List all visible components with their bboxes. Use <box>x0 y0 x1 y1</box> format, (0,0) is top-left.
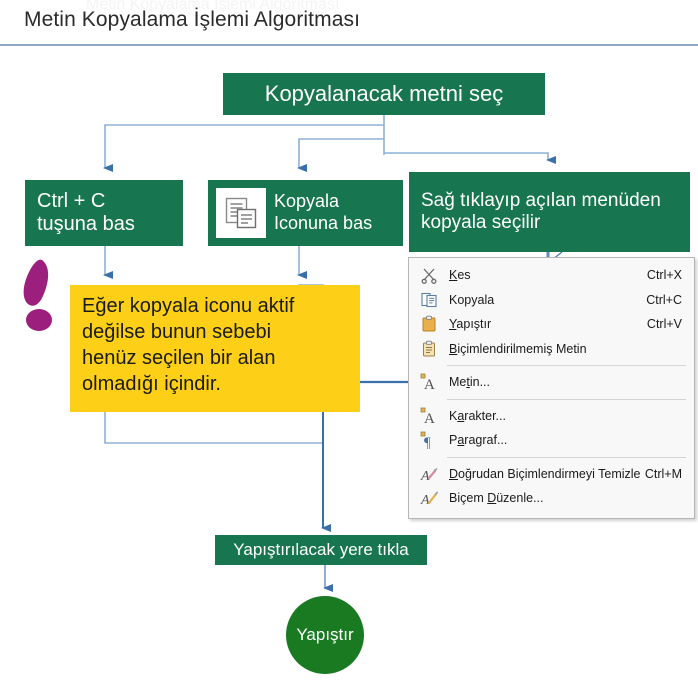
character-a-icon: A <box>415 406 443 426</box>
callout-line-3: henüz seçilen bir alan <box>82 345 360 371</box>
node-right-click-menu-label: Sağ tıklayıp açılan menüden kopyala seçi… <box>421 190 661 234</box>
menu-item-kes-accel: Ctrl+X <box>647 268 694 282</box>
menu-item-kes-mnemonic: K <box>449 268 457 282</box>
node-copy-icon-line2: Iconuna bas <box>274 213 372 233</box>
callout-line-2: değilse bunun sebebi <box>82 319 360 345</box>
menu-item-bicimlendirilmemis-metin-label: Biçimlendirilmemiş Metin <box>443 342 682 356</box>
menu-item-paragraf[interactable]: ¶ Paragraf... <box>409 428 694 453</box>
text-a-icon: A <box>415 372 443 392</box>
menu-item-bicimlendirilmemis-metin[interactable]: Biçimlendirilmemiş Metin <box>409 337 694 362</box>
menu-item-bicimlendirilmemis-metin-mnemonic: B <box>449 342 457 356</box>
callout-note: Eğer kopyala iconu aktif değilse bunun s… <box>70 285 360 412</box>
menu-item-metin[interactable]: A Metin... <box>409 370 694 395</box>
paste-icon <box>415 314 443 334</box>
node-ctrl-c-label: Ctrl + C tuşuna bas <box>37 190 135 236</box>
svg-text:A: A <box>420 469 430 483</box>
scissors-icon <box>415 265 443 285</box>
menu-item-bicem-duzenle[interactable]: A Biçem Düzenle... <box>409 486 694 511</box>
menu-item-yapistir-mnemonic: Y <box>449 317 456 331</box>
node-paste-terminator-label: Yapıştır <box>296 625 353 645</box>
menu-item-kes-label: Kes <box>443 268 647 282</box>
node-right-click-menu[interactable]: Sağ tıklayıp açılan menüden kopyala seçi… <box>409 172 690 252</box>
menu-separator <box>447 365 686 366</box>
svg-text:¶: ¶ <box>424 435 431 449</box>
clear-formatting-icon: A <box>415 464 443 484</box>
node-copy-icon-press[interactable]: Kopyala Iconuna bas <box>208 180 403 246</box>
node-right-click-line1: Sağ tıklayıp açılan menüden <box>421 190 661 211</box>
node-ctrl-c-line2: tuşuna bas <box>37 213 135 235</box>
menu-item-karakter[interactable]: A Karakter... <box>409 404 694 429</box>
exclamation-mark-icon <box>12 258 68 334</box>
menu-item-bicem-duzenle-mnemonic: D <box>487 491 496 505</box>
menu-item-kopyala[interactable]: Kopyala Ctrl+C <box>409 288 694 313</box>
context-menu[interactable]: Kes Ctrl+X Kopyala Ctrl+C <box>408 257 695 519</box>
node-copy-icon-line1: Kopyala <box>274 191 339 211</box>
svg-text:A: A <box>420 493 430 507</box>
menu-item-karakter-mnemonic: a <box>457 409 464 423</box>
menu-item-bicem-duzenle-label: Biçem Düzenle... <box>443 491 682 505</box>
slide-canvas: Metin Kopyalama İşlemi Algoritması Metin… <box>0 0 698 680</box>
callout-line-1: Eğer kopyala iconu aktif <box>82 293 360 319</box>
menu-item-yapistir[interactable]: Yapıştır Ctrl+V <box>409 312 694 337</box>
paragraph-icon: ¶ <box>415 430 443 450</box>
copy-icon <box>415 290 443 310</box>
menu-separator <box>447 399 686 400</box>
menu-item-metin-label: Metin... <box>443 375 682 389</box>
node-select-text-label: Kopyalanacak metni seç <box>265 81 503 106</box>
menu-item-dogrudan-mnemonic: D <box>449 467 458 481</box>
node-right-click-line2: kopyala seçilir <box>421 212 540 233</box>
edit-style-icon: A <box>415 488 443 508</box>
menu-item-kes[interactable]: Kes Ctrl+X <box>409 263 694 288</box>
menu-item-kopyala-accel: Ctrl+C <box>646 293 694 307</box>
menu-separator <box>447 457 686 458</box>
node-select-text[interactable]: Kopyalanacak metni seç <box>223 73 545 115</box>
node-paste-click-label: Yapıştırılacak yere tıkla <box>233 540 408 560</box>
node-paste-click[interactable]: Yapıştırılacak yere tıkla <box>215 535 427 565</box>
menu-item-kopyala-label: Kopyala <box>443 293 646 307</box>
menu-item-yapistir-accel: Ctrl+V <box>647 317 694 331</box>
callout-line-4: olmadığı içindir. <box>82 371 360 397</box>
svg-text:A: A <box>424 411 435 425</box>
menu-item-metin-mnemonic: t <box>466 375 469 389</box>
menu-item-yapistir-label: Yapıştır <box>443 317 647 331</box>
menu-item-karakter-label: Karakter... <box>443 409 682 423</box>
copy-icon <box>216 188 266 238</box>
menu-item-dogrudan-bicimlendirmeyi-temizle[interactable]: A Doğrudan Biçimlendirmeyi Temizle Ctrl+… <box>409 462 694 487</box>
copy-icon-glyph <box>222 194 260 232</box>
node-ctrl-c-line1: Ctrl + C <box>37 190 105 212</box>
clipboard-text-icon <box>415 339 443 359</box>
node-ctrl-c[interactable]: Ctrl + C tuşuna bas <box>25 180 183 246</box>
menu-item-paragraf-mnemonic: a <box>457 433 464 447</box>
node-copy-icon-label: Kopyala Iconuna bas <box>274 191 372 234</box>
menu-item-dogrudan-accel: Ctrl+M <box>645 467 694 481</box>
menu-item-dogrudan-label: Doğrudan Biçimlendirmeyi Temizle <box>443 467 645 481</box>
node-paste-terminator[interactable]: Yapıştır <box>286 596 364 674</box>
svg-text:A: A <box>424 377 435 391</box>
menu-item-paragraf-label: Paragraf... <box>443 433 682 447</box>
